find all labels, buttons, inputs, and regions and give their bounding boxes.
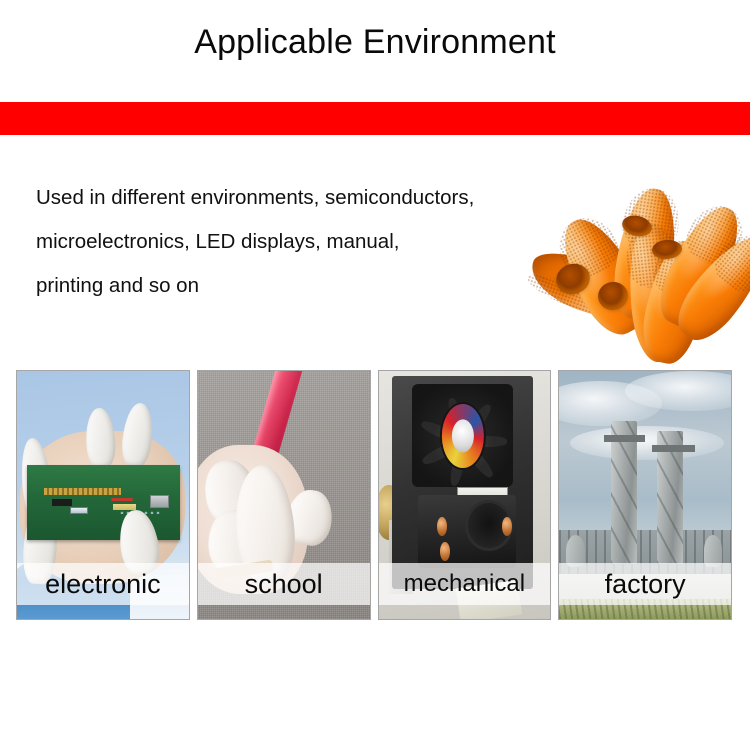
cooler-body (392, 376, 533, 589)
stack-platform (604, 435, 645, 441)
circuit-board (27, 465, 180, 539)
red-divider-bar (0, 102, 750, 135)
application-panel-school[interactable]: school (197, 370, 371, 620)
page-title: Applicable Environment (0, 22, 750, 62)
board-chip (52, 499, 72, 506)
board-edge-connector (44, 488, 120, 495)
description-line-1: Used in different environments, semicond… (36, 176, 596, 220)
application-panel-strip: electronic school (16, 370, 732, 620)
application-panel-factory[interactable]: factory (558, 370, 732, 620)
description-line-2: microelectronics, LED displays, manual, (36, 220, 596, 264)
description-text: Used in different environments, semicond… (36, 176, 596, 308)
copper-rivet (502, 517, 512, 536)
panel-label-electronic: electronic (17, 563, 189, 605)
panel-label-factory: factory (559, 563, 731, 605)
fan-hub-center (452, 419, 474, 452)
description-line-3: printing and so on (36, 264, 596, 308)
cloud (570, 426, 725, 461)
application-panel-electronic[interactable]: electronic (16, 370, 190, 620)
product-photo-finger-cots (522, 186, 750, 361)
copper-rivet (437, 517, 447, 536)
panel-label-school: school (198, 563, 370, 605)
board-port (150, 495, 170, 508)
panel-label-mechanical: mechanical (379, 563, 551, 605)
stack-platform (652, 445, 695, 451)
application-panel-mechanical[interactable]: mechanical (378, 370, 552, 620)
smokestack (611, 421, 637, 565)
board-chip (70, 507, 88, 514)
board-component (111, 498, 132, 501)
fan-hub-sticker (442, 404, 484, 468)
